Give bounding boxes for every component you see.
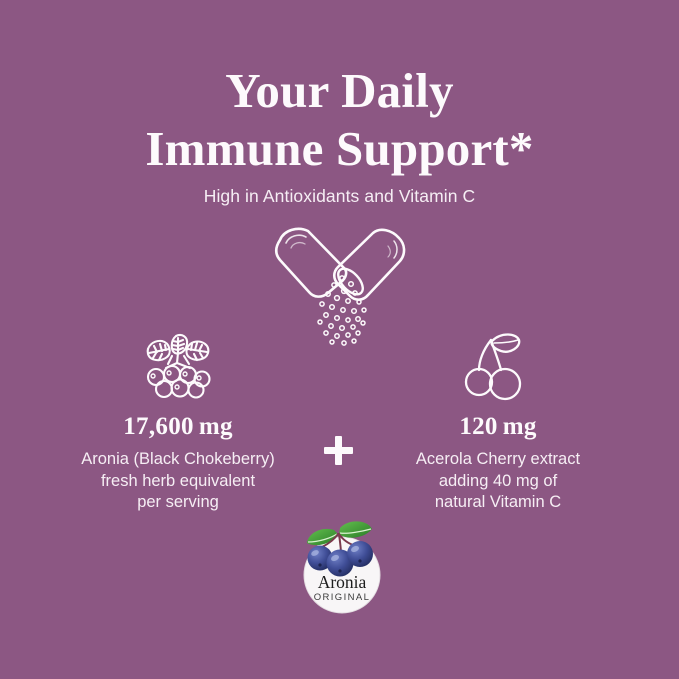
acerola-description-line-2: adding 40 mg of	[358, 471, 638, 493]
headline-line-2: Immune Support*	[0, 120, 679, 178]
page-title: Your Daily Immune Support*	[0, 62, 679, 178]
aronia-amount-value: 17,600	[123, 413, 194, 440]
acerola-description-line-1: Acerola Cherry extract	[358, 449, 638, 471]
aronia-amount-unit: mg	[199, 413, 233, 440]
brand-badge-name: Aronia	[318, 572, 367, 592]
promo-poster: Your Daily Immune Support* High in Antio…	[0, 0, 679, 679]
acerola-cherry-icon	[358, 330, 638, 402]
aronia-amount: 17,600mg	[38, 412, 318, 442]
ingredient-aronia: 17,600mg Aronia (Black Chokeberry) fresh…	[38, 330, 318, 514]
aronia-description-line-2: fresh herb equivalent	[38, 471, 318, 493]
aronia-description-line-1: Aronia (Black Chokeberry)	[38, 449, 318, 471]
aronia-description-line-3: per serving	[38, 492, 318, 514]
subtitle: High in Antioxidants and Vitamin C	[0, 186, 679, 207]
ingredients-row: 17,600mg Aronia (Black Chokeberry) fresh…	[0, 330, 679, 530]
plus-icon	[322, 434, 355, 467]
acerola-amount-value: 120	[459, 413, 497, 440]
brand-badge: Aronia ORIGINAL	[294, 518, 390, 616]
plus-bar-vertical	[335, 436, 342, 465]
aronia-berry-cluster-icon	[38, 330, 318, 402]
headline-line-1: Your Daily	[0, 62, 679, 120]
ingredient-acerola: 120mg Acerola Cherry extract adding 40 m…	[358, 330, 638, 514]
brand-badge-tagline: ORIGINAL	[314, 592, 371, 603]
aronia-description: Aronia (Black Chokeberry) fresh herb equ…	[38, 449, 318, 514]
acerola-description: Acerola Cherry extract adding 40 mg of n…	[358, 449, 638, 514]
acerola-amount-unit: mg	[503, 413, 537, 440]
acerola-description-line-3: natural Vitamin C	[358, 492, 638, 514]
acerola-amount: 120mg	[358, 412, 638, 442]
